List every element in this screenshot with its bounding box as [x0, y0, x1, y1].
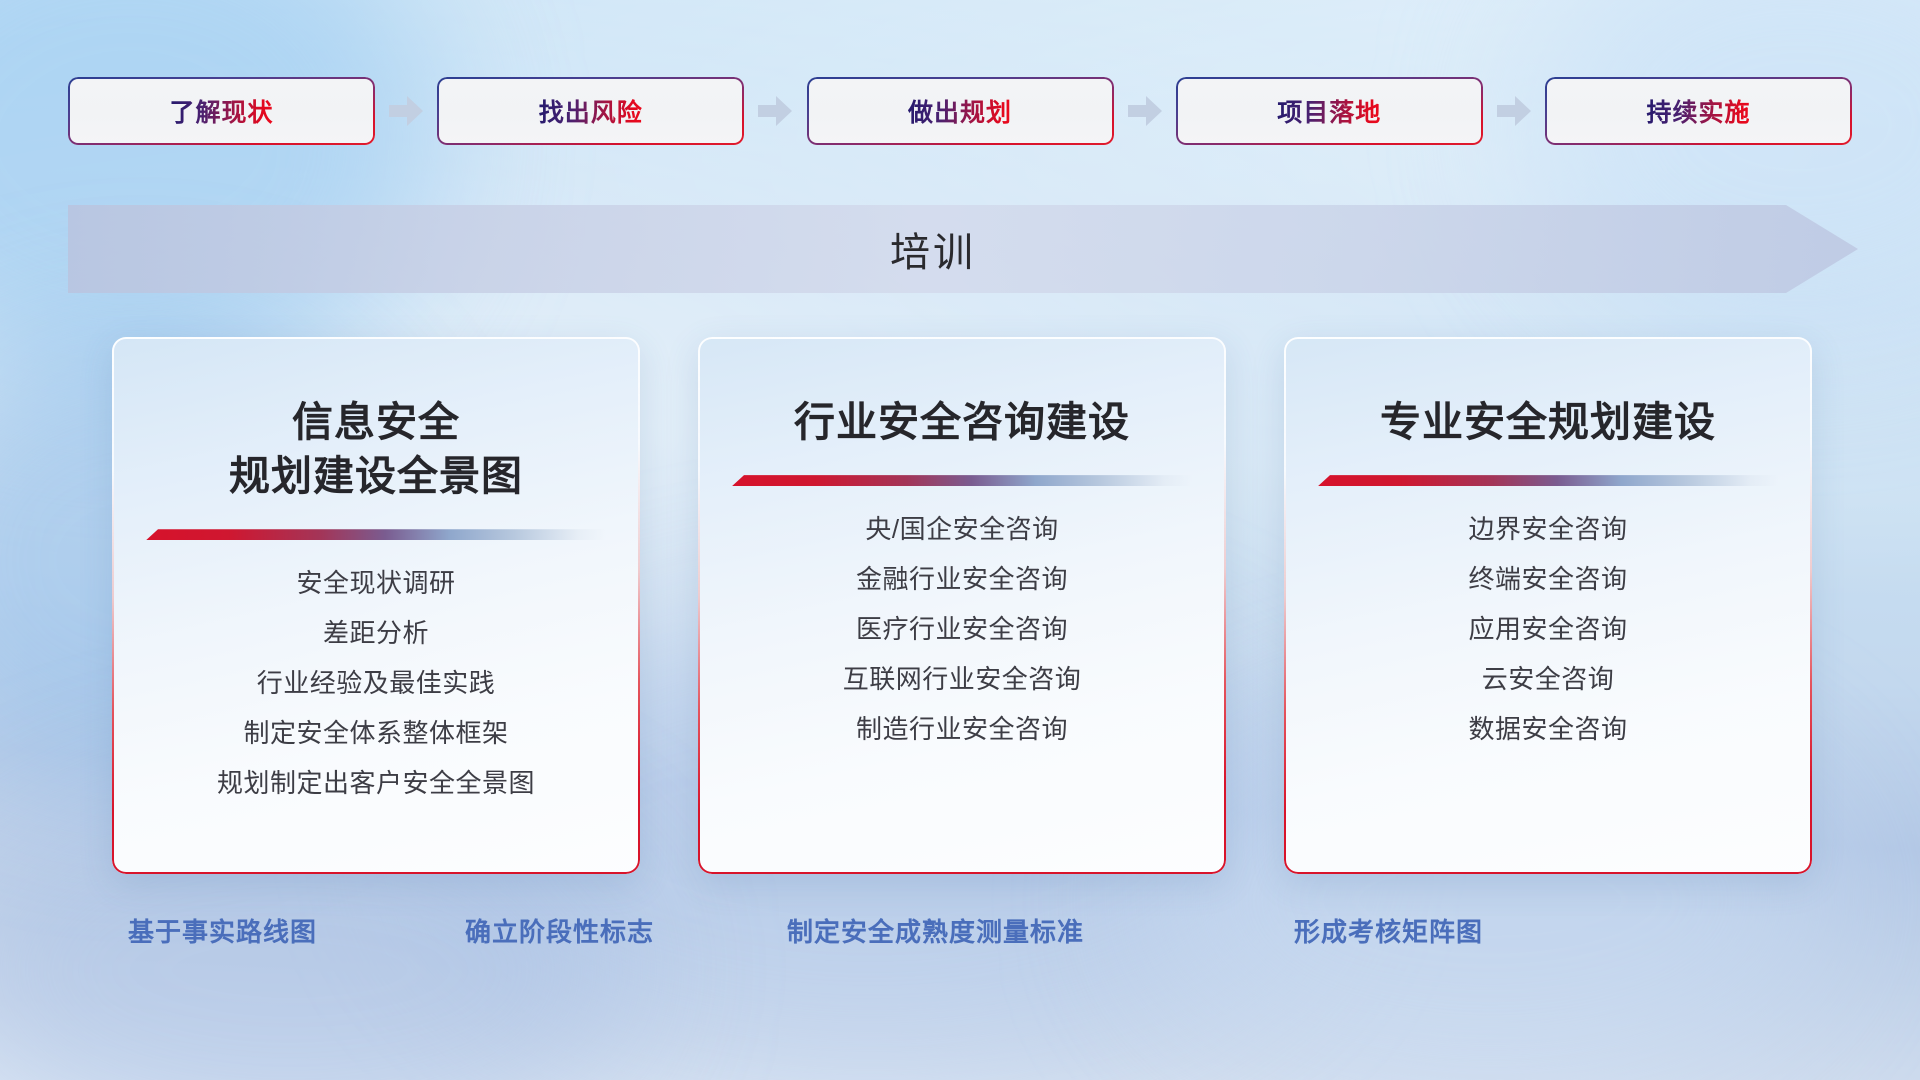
card-list-item: 互联网行业安全咨询	[732, 666, 1192, 692]
process-step-1[interactable]: 了解现状	[68, 77, 375, 145]
process-step-strip: 了解现状找出风险做出规划项目落地持续实施	[68, 76, 1852, 146]
content-card-2[interactable]: 行业安全咨询建设央/国企安全咨询金融行业安全咨询医疗行业安全咨询互联网行业安全咨…	[698, 337, 1226, 874]
process-step-2[interactable]: 找出风险	[437, 77, 744, 145]
process-step-label: 做出规划	[908, 93, 1012, 129]
card-accent-rule	[1318, 475, 1778, 486]
card-title: 信息安全 规划建设全景图	[229, 395, 523, 503]
card-title: 专业安全规划建设	[1380, 395, 1716, 449]
card-row: 信息安全 规划建设全景图安全现状调研差距分析行业经验及最佳实践制定安全体系整体框…	[112, 337, 1812, 874]
card-accent-rule	[732, 475, 1192, 486]
card-list-item: 央/国企安全咨询	[732, 516, 1192, 542]
step-arrow-icon	[1483, 96, 1545, 126]
card-item-list: 边界安全咨询终端安全咨询应用安全咨询云安全咨询数据安全咨询	[1318, 516, 1778, 742]
card-list-item: 数据安全咨询	[1318, 716, 1778, 742]
card-list-item: 差距分析	[146, 620, 606, 646]
content-card-1[interactable]: 信息安全 规划建设全景图安全现状调研差距分析行业经验及最佳实践制定安全体系整体框…	[112, 337, 640, 874]
footnote-row: 基于事实路线图确立阶段性标志制定安全成熟度测量标准形成考核矩阵图	[0, 912, 1920, 956]
card-list-item: 规划制定出客户安全全景图	[146, 770, 606, 796]
process-step-label: 持续实施	[1646, 93, 1750, 129]
card-list-item: 云安全咨询	[1318, 666, 1778, 692]
footnote-label-2: 确立阶段性标志	[465, 912, 654, 949]
banner-label: 培训	[68, 205, 1858, 293]
content-card-3[interactable]: 专业安全规划建设边界安全咨询终端安全咨询应用安全咨询云安全咨询数据安全咨询	[1284, 337, 1812, 874]
card-list-item: 制定安全体系整体框架	[146, 720, 606, 746]
card-accent-rule	[146, 529, 606, 540]
footnote-label-4: 形成考核矩阵图	[1294, 912, 1483, 949]
card-list-item: 安全现状调研	[146, 570, 606, 596]
card-list-item: 边界安全咨询	[1318, 516, 1778, 542]
process-step-label: 项目落地	[1277, 93, 1381, 129]
card-item-list: 央/国企安全咨询金融行业安全咨询医疗行业安全咨询互联网行业安全咨询制造行业安全咨…	[732, 516, 1192, 742]
process-step-label: 找出风险	[539, 93, 643, 129]
card-list-item: 医疗行业安全咨询	[732, 616, 1192, 642]
step-arrow-icon	[1114, 96, 1176, 126]
process-step-label: 了解现状	[169, 93, 273, 129]
footnote-label-1: 基于事实路线图	[128, 912, 317, 949]
footnote-label-3: 制定安全成熟度测量标准	[787, 912, 1084, 949]
card-list-item: 制造行业安全咨询	[732, 716, 1192, 742]
card-title: 行业安全咨询建设	[794, 395, 1130, 449]
process-step-3[interactable]: 做出规划	[807, 77, 1114, 145]
card-item-list: 安全现状调研差距分析行业经验及最佳实践制定安全体系整体框架规划制定出客户安全全景…	[146, 570, 606, 796]
slide-canvas: 了解现状找出风险做出规划项目落地持续实施 培训 信息安全 规划建设全景图安全现状…	[0, 0, 1920, 1080]
card-list-item: 金融行业安全咨询	[732, 566, 1192, 592]
process-step-5[interactable]: 持续实施	[1545, 77, 1852, 145]
card-list-item: 应用安全咨询	[1318, 616, 1778, 642]
card-list-item: 终端安全咨询	[1318, 566, 1778, 592]
card-list-item: 行业经验及最佳实践	[146, 670, 606, 696]
step-arrow-icon	[375, 96, 437, 126]
process-step-4[interactable]: 项目落地	[1176, 77, 1483, 145]
step-arrow-icon	[744, 96, 806, 126]
training-banner: 培训	[68, 205, 1858, 293]
